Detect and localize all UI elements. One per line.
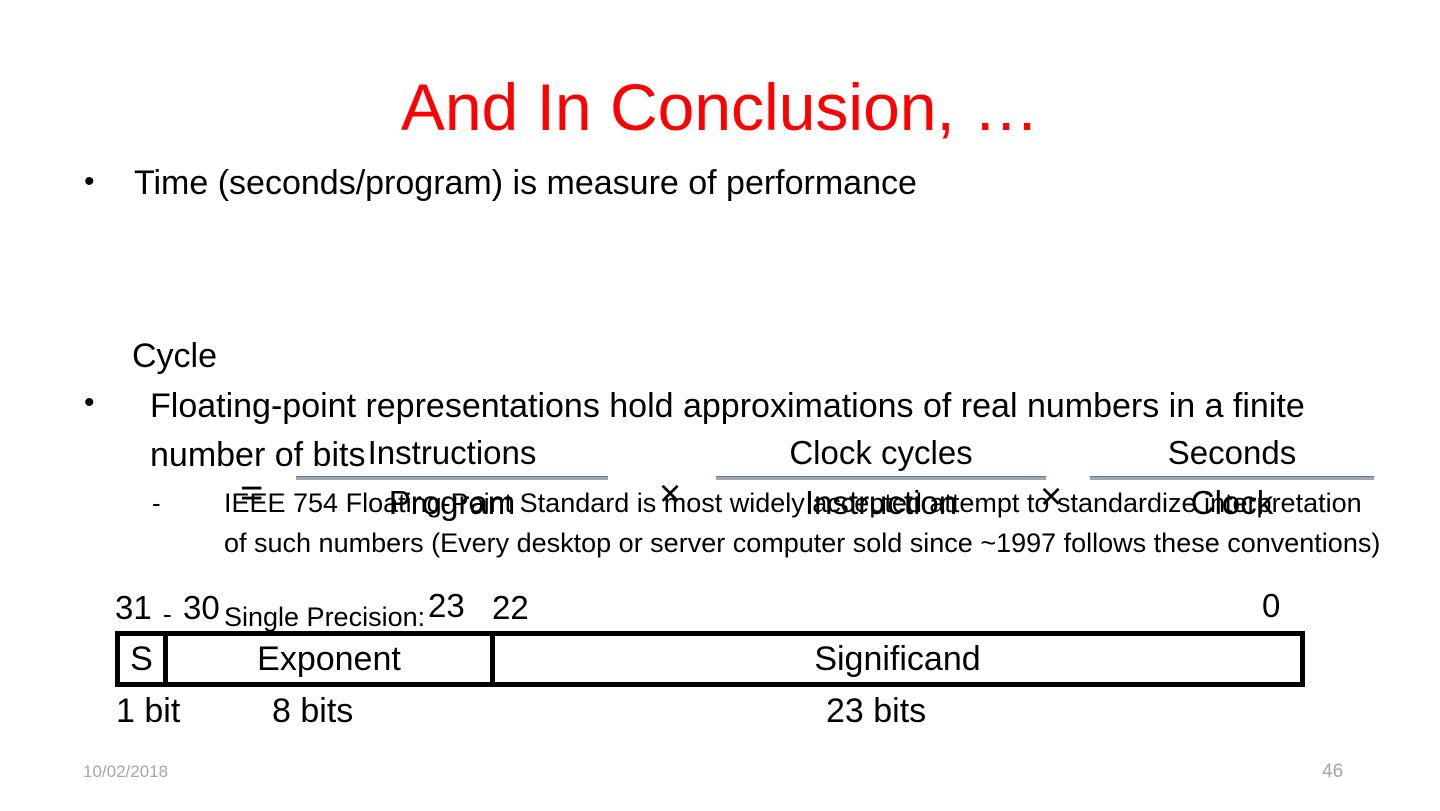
field-width-sign: 1 bit (116, 691, 180, 731)
field-width-exponent: 8 bits (272, 691, 353, 731)
sub-bullet-text-ieee754: IEEE 754 Floating-Point Standard is most… (224, 483, 1382, 563)
float-format-diagram: S Exponent Significand (115, 631, 1305, 687)
bullet-marker-icon: • (84, 161, 134, 203)
single-precision-label: Single Precision: (224, 600, 425, 634)
bullet-item-floating-point: • Floating-point representations hold ap… (84, 382, 1374, 480)
bit-index-0: 0 (1262, 588, 1280, 624)
footer-date: 10/02/2018 (83, 761, 168, 783)
field-sign: S (120, 636, 168, 682)
bullet-text-floating-point: Floating-point representations hold appr… (150, 382, 1374, 480)
equation-trailing-word: Cycle (132, 334, 217, 378)
bit-index-31: 31 (115, 590, 152, 626)
bit-index-23: 23 (428, 588, 465, 624)
sub-bullet-item-ieee754: - IEEE 754 Floating-Point Standard is mo… (152, 483, 1382, 563)
sub-bullet-marker-icon: - (152, 483, 224, 523)
slide-canvas: And In Conclusion, … • Time (seconds/pro… (0, 0, 1440, 811)
field-width-significand: 23 bits (826, 691, 926, 731)
bit-index-dash: - (163, 596, 172, 632)
field-significand: Significand (495, 636, 1300, 682)
bullet-text-time: Time (seconds/program) is measure of per… (134, 161, 917, 205)
bit-index-30: 30 (183, 590, 220, 626)
bullet-marker-icon: • (84, 382, 150, 424)
field-exponent: Exponent (168, 636, 495, 682)
bullet-item-time: • Time (seconds/program) is measure of p… (84, 161, 1364, 205)
page-title: And In Conclusion, … (0, 68, 1440, 146)
footer-page-number: 46 (1322, 761, 1343, 783)
performance-equation: = Instructions Program × Clock cycles In… (120, 213, 1420, 331)
bit-index-22: 22 (492, 590, 529, 626)
